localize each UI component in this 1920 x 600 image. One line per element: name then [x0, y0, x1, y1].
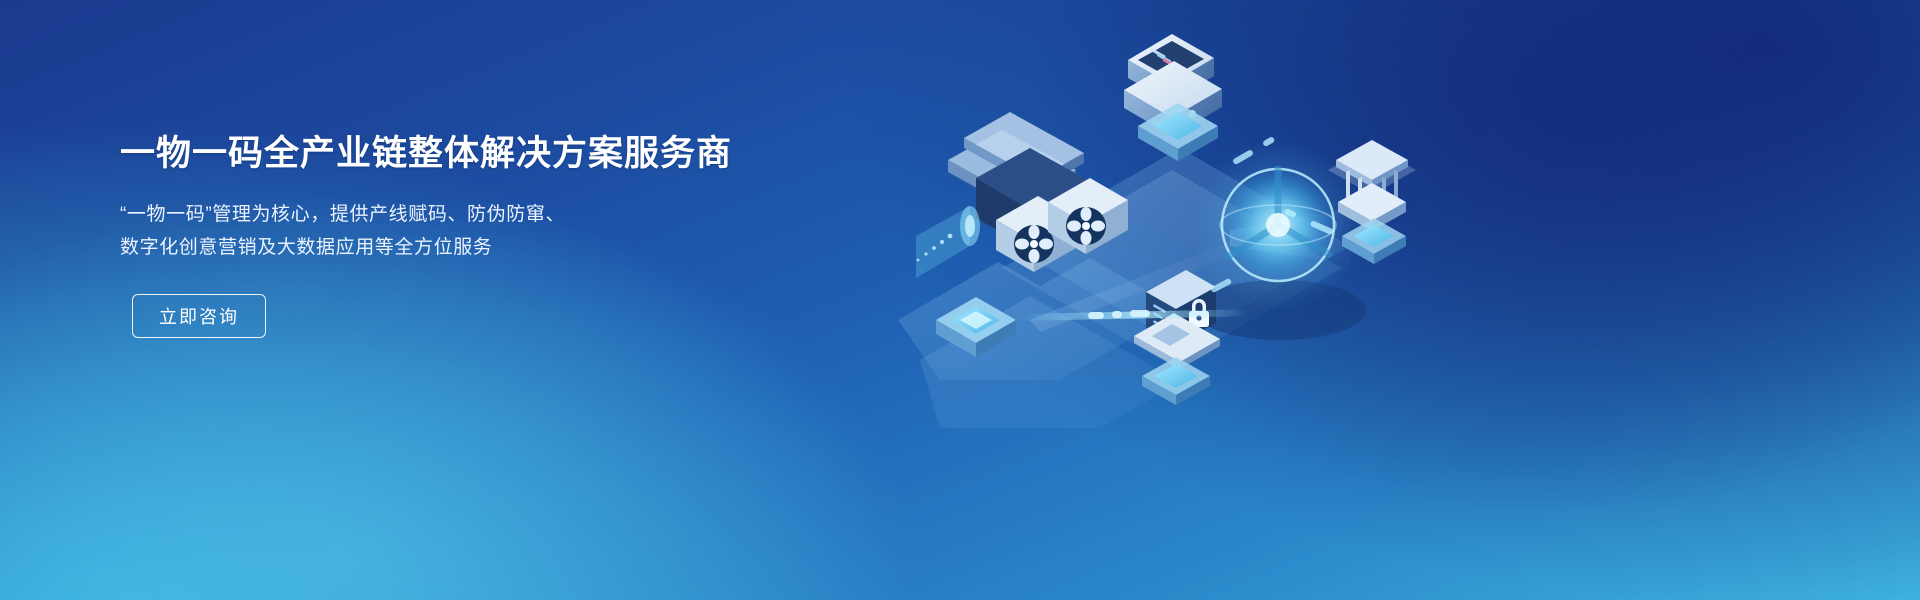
scanner-beam-icon: [916, 206, 980, 278]
consult-now-button[interactable]: 立即咨询: [132, 294, 266, 338]
hero-banner: 一物一码全产业链整体解决方案服务商 “一物一码”管理为核心，提供产线赋码、防伪防…: [0, 0, 1920, 600]
hero-subtitle-block: “一物一码”管理为核心，提供产线赋码、防伪防窜、 数字化创意营销及大数据应用等全…: [120, 198, 840, 264]
hero-headline: 一物一码全产业链整体解决方案服务商: [120, 132, 840, 176]
hero-subtitle-line-2: 数字化创意营销及大数据应用等全方位服务: [120, 231, 840, 264]
hero-subtitle-line-1: “一物一码”管理为核心，提供产线赋码、防伪防窜、: [120, 198, 840, 231]
hero-copy-block: 一物一码全产业链整体解决方案服务商 “一物一码”管理为核心，提供产线赋码、防伪防…: [120, 132, 840, 338]
hero-illustration: [880, 20, 1440, 440]
